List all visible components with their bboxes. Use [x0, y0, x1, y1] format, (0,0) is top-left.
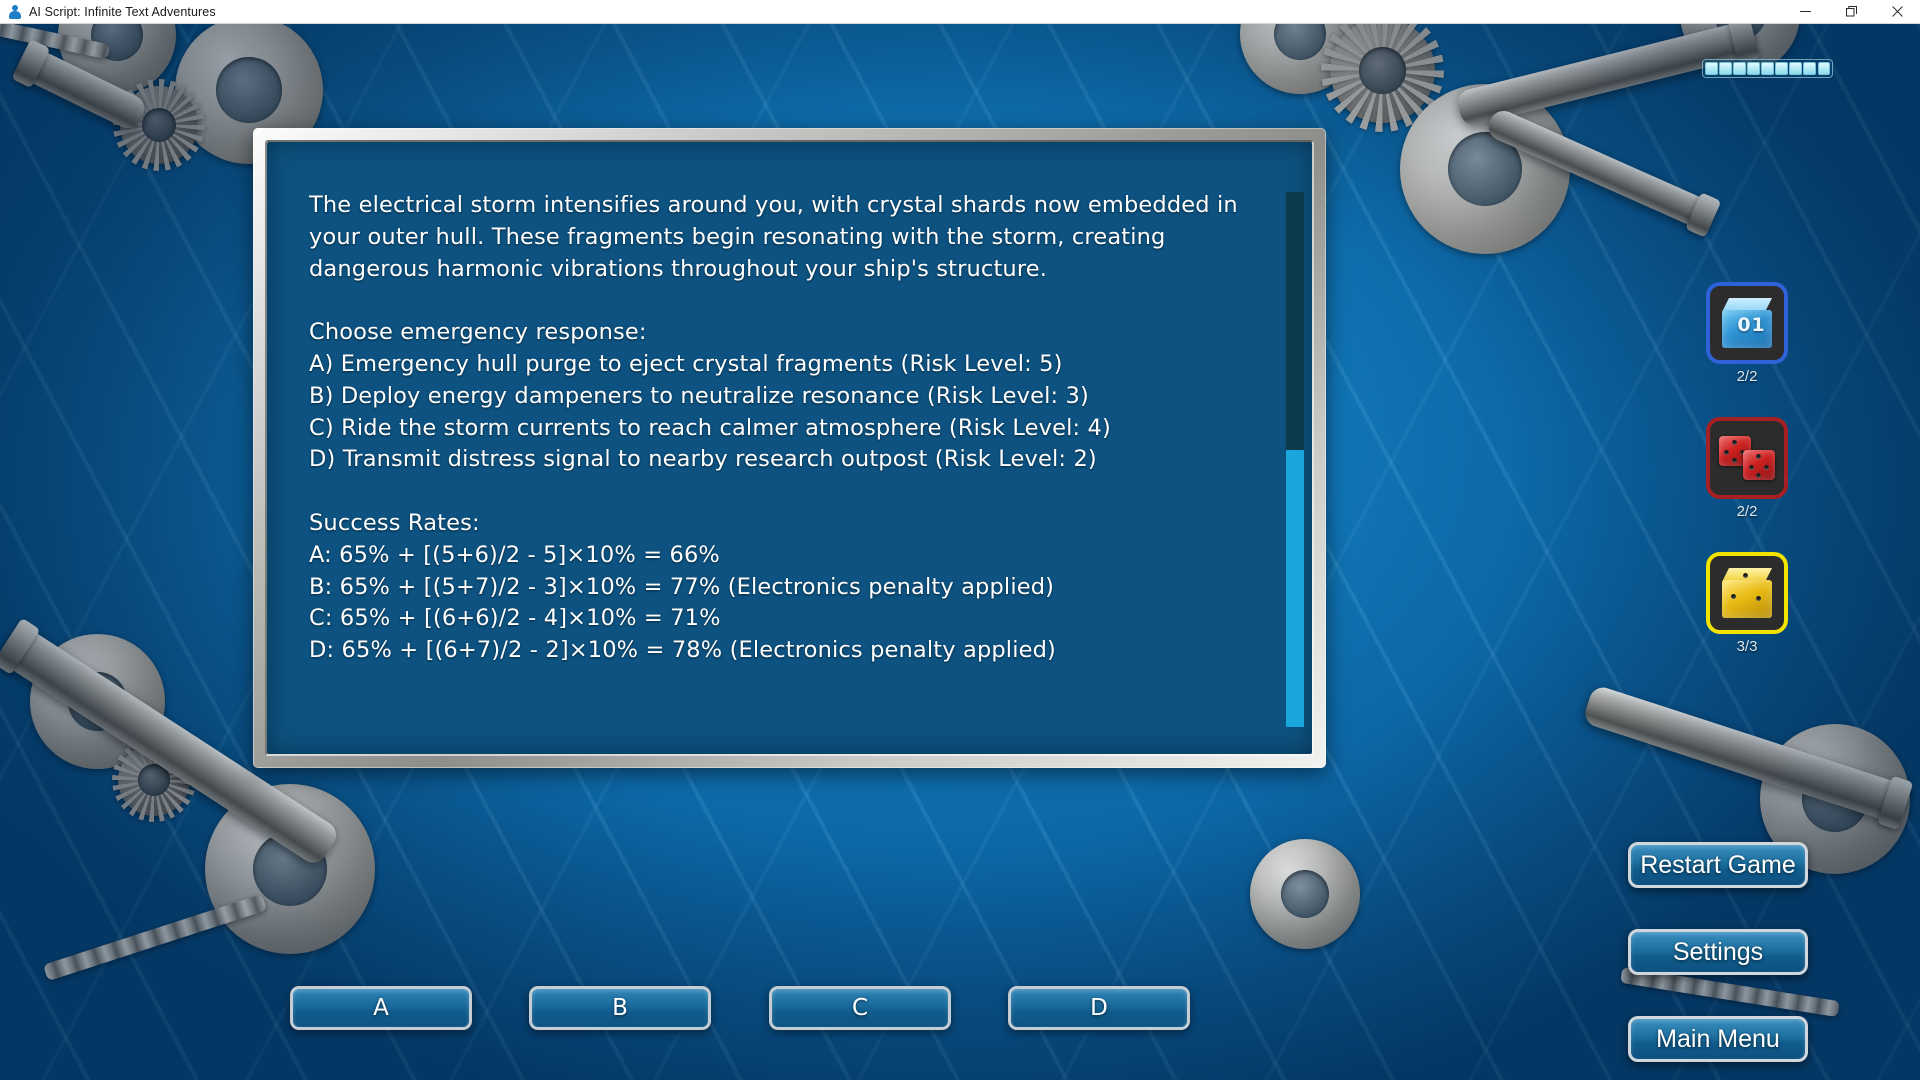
story-scrollbar[interactable] — [1286, 192, 1304, 727]
choice-button-a[interactable]: A — [290, 986, 472, 1030]
settings-button[interactable]: Settings — [1628, 929, 1808, 975]
binary-die-faces: 1 — [1736, 314, 1786, 336]
segment-meter — [1702, 59, 1833, 78]
restart-game-button[interactable]: Restart Game — [1628, 842, 1808, 888]
inventory-slot-gold-die[interactable] — [1706, 552, 1788, 634]
meter-segment — [1803, 62, 1816, 75]
inventory-count-binary-die: 2/2 — [1706, 368, 1788, 385]
inventory-count-red-dice: 2/2 — [1706, 503, 1788, 520]
close-icon[interactable] — [1874, 0, 1920, 24]
meter-segment — [1705, 62, 1718, 75]
story-panel: The electrical storm intensifies around … — [253, 128, 1326, 768]
choice-button-c[interactable]: C — [769, 986, 951, 1030]
window-controls — [1782, 0, 1920, 24]
restore-icon[interactable] — [1828, 0, 1874, 24]
scrollbar-track[interactable] — [1286, 192, 1304, 450]
meter-segment — [1789, 62, 1802, 75]
meter-segment — [1747, 62, 1760, 75]
story-text: The electrical storm intensifies around … — [309, 190, 1244, 667]
inventory-slot-binary-die[interactable]: 0 1 — [1706, 282, 1788, 364]
window-title: AI Script: Infinite Text Adventures — [29, 5, 216, 19]
gold-die-icon — [1722, 568, 1772, 618]
story-screen: The electrical storm intensifies around … — [267, 142, 1312, 754]
inventory-slot-red-dice[interactable] — [1706, 417, 1788, 499]
choice-button-b[interactable]: B — [529, 986, 711, 1030]
choice-button-d[interactable]: D — [1008, 986, 1190, 1030]
chain-icon — [43, 894, 267, 981]
meter-segment — [1775, 62, 1788, 75]
game-stage: The electrical storm intensifies around … — [0, 24, 1920, 1080]
meter-segment — [1733, 62, 1746, 75]
meter-segment — [1761, 62, 1774, 75]
scrollbar-thumb[interactable] — [1286, 450, 1304, 727]
app-person-icon — [8, 5, 22, 19]
gear-icon — [1330, 24, 1435, 123]
gear-icon — [1250, 839, 1360, 949]
window-title-bar: AI Script: Infinite Text Adventures — [0, 0, 1920, 24]
binary-die-icon: 0 1 — [1722, 298, 1772, 348]
red-dice-pair-icon — [1719, 434, 1775, 482]
main-menu-button[interactable]: Main Menu — [1628, 1016, 1808, 1062]
minimize-icon[interactable] — [1782, 0, 1828, 24]
inventory-count-gold-die: 3/3 — [1706, 638, 1788, 655]
meter-segment — [1818, 62, 1831, 75]
meter-segment — [1719, 62, 1732, 75]
